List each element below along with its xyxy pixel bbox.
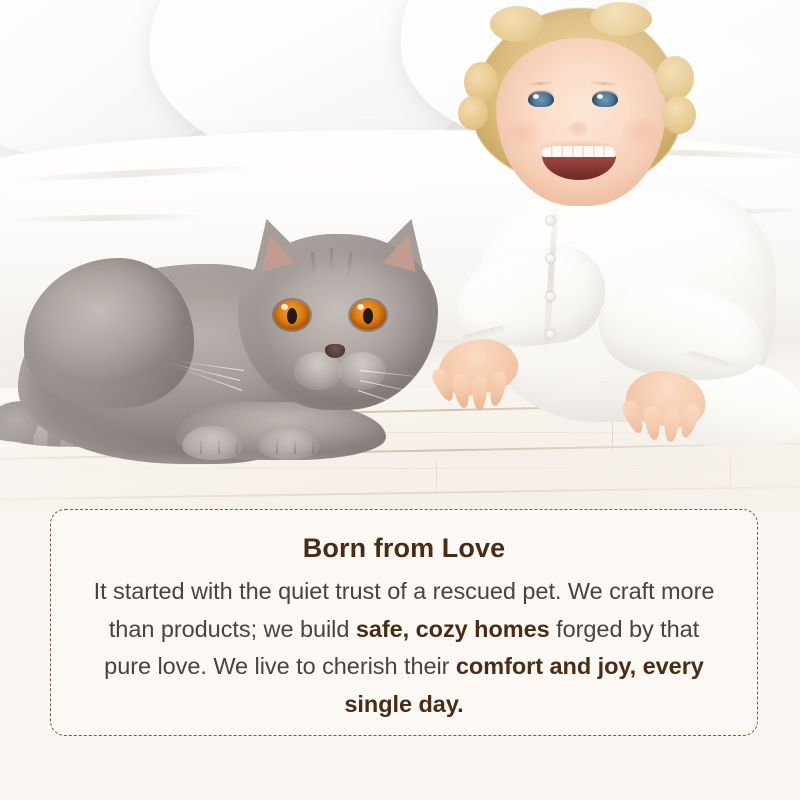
promo-image-canvas: Born from Love It started with the quiet…	[0, 0, 800, 800]
cat-pupil-left	[287, 308, 297, 324]
baby	[430, 0, 800, 500]
card-body-emphasis: comfort and joy, every single day.	[344, 653, 703, 717]
cat-toe-line	[200, 438, 202, 454]
card-title: Born from Love	[85, 532, 723, 564]
cat-paw	[182, 426, 244, 460]
baby-teeth	[542, 146, 616, 157]
story-card: Born from Love It started with the quiet…	[50, 509, 758, 736]
card-body-emphasis: safe, cozy homes	[356, 616, 550, 642]
baby-hair-curl	[458, 96, 488, 130]
cat-eye-glint	[357, 304, 364, 310]
cat-paw	[258, 426, 320, 460]
cat-haunch	[24, 258, 194, 408]
baby-nose	[568, 122, 588, 136]
cat	[0, 212, 480, 492]
floor-grain	[0, 506, 800, 507]
lifestyle-photo	[0, 0, 800, 512]
onesie-snap	[546, 216, 555, 225]
onesie-snap	[546, 330, 555, 339]
cat-toe-line	[276, 438, 278, 454]
onesie-snap	[546, 254, 555, 263]
baby-eye-left	[528, 92, 554, 107]
baby-hair-curl	[490, 6, 544, 42]
card-body-text: It started with the quiet trust of a res…	[85, 573, 723, 723]
cat-pupil-right	[363, 308, 373, 324]
baby-cheek	[620, 116, 662, 148]
cat-toe-line	[312, 438, 314, 454]
cat-toe-line	[218, 438, 220, 454]
cat-forehead-stripe	[330, 248, 333, 274]
baby-hair-curl	[662, 96, 696, 134]
cat-toe-line	[236, 438, 238, 454]
baby-finger	[472, 376, 487, 410]
baby-eye-right	[592, 92, 618, 107]
baby-eye-glint	[597, 94, 603, 99]
baby-hair-curl	[590, 2, 652, 36]
cat-toe-line	[294, 438, 296, 454]
onesie-snap	[546, 292, 555, 301]
baby-hair-curl	[656, 56, 694, 100]
baby-eye-glint	[533, 94, 539, 99]
baby-finger	[663, 408, 680, 443]
cat-eye-glint	[281, 304, 288, 310]
